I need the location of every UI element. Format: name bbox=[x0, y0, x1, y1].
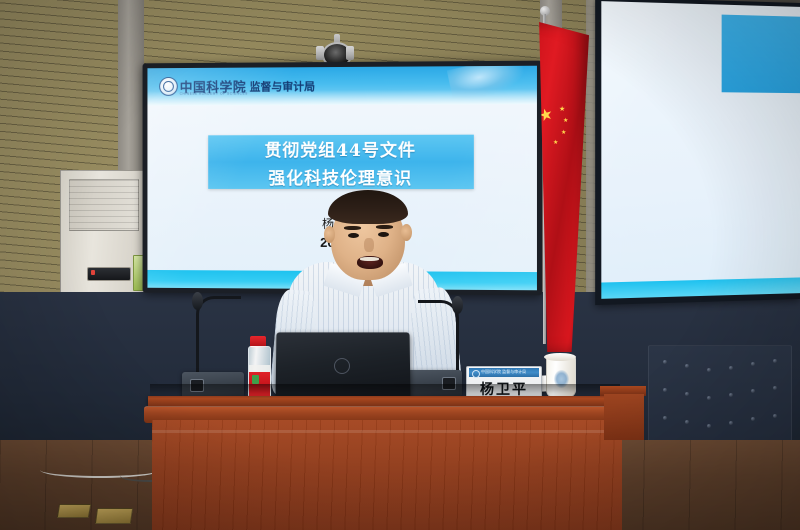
projection-footer-band bbox=[601, 277, 800, 298]
laptop-brand-logo bbox=[334, 358, 350, 374]
presenter-ear-right bbox=[401, 224, 412, 241]
outlet-icon bbox=[95, 508, 133, 524]
microphone-icon bbox=[196, 296, 241, 379]
nameplate-banner-text: 中国科学院 监督与审计局 bbox=[481, 369, 526, 375]
table-trim-line bbox=[152, 430, 622, 433]
department-name-zh: 监督与审计局 bbox=[250, 78, 315, 94]
projection-title-block bbox=[722, 15, 800, 94]
camera-side bbox=[346, 46, 354, 60]
camera-side bbox=[316, 46, 324, 60]
org-name-en: CHINESE ACADEMY OF SCIENCES bbox=[180, 91, 248, 95]
slide-title-band: 贯彻党组44号文件 强化科技伦理意识 bbox=[208, 135, 474, 189]
slide-title-line-2: 强化科技伦理意识 bbox=[268, 163, 412, 188]
presenter-ear-left bbox=[324, 226, 335, 243]
presenter-head bbox=[331, 196, 405, 280]
side-podium-body bbox=[604, 394, 644, 440]
table-front-panel bbox=[152, 420, 622, 530]
microphone-head bbox=[192, 292, 203, 310]
cup-rim bbox=[544, 353, 576, 361]
microphone-head bbox=[452, 296, 463, 314]
right-projection-screen[interactable] bbox=[595, 0, 800, 305]
conference-room-photo: 中国科学院 CHINESE ACADEMY OF SCIENCES 监督与审计局… bbox=[0, 0, 800, 530]
slide-title-line-1: 贯彻党组44号文件 bbox=[265, 135, 416, 160]
nameplate-banner: 中国科学院 监督与审计局 bbox=[469, 368, 539, 377]
cas-emblem-icon bbox=[159, 77, 178, 96]
outlet-icon bbox=[57, 504, 91, 518]
